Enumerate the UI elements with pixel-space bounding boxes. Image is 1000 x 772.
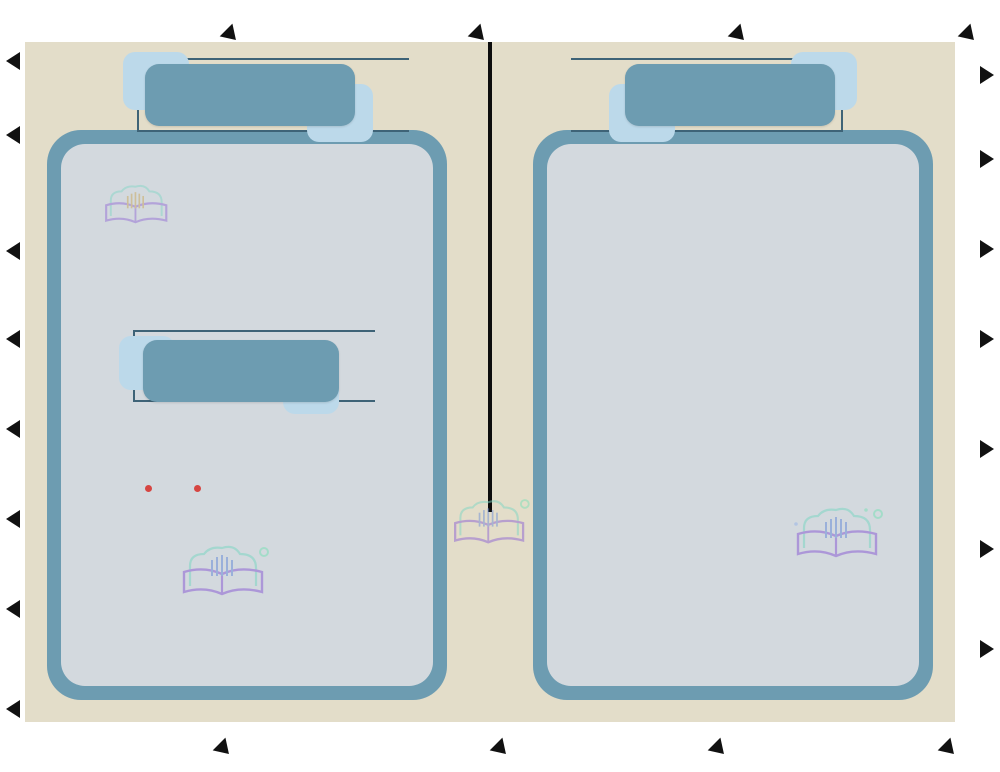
worksheet-note bbox=[145, 482, 355, 494]
translation-mini-graph-right bbox=[259, 526, 409, 616]
crop-arrow-left-5 bbox=[6, 420, 20, 438]
crop-arrow-bottom-2 bbox=[490, 738, 513, 761]
panel-ordered-pairs bbox=[533, 130, 933, 700]
crop-arrow-left-6 bbox=[6, 510, 20, 528]
crop-arrow-bottom-4 bbox=[938, 738, 961, 761]
worksheet-note-items bbox=[145, 485, 355, 494]
crop-arrow-left-8 bbox=[6, 700, 20, 718]
crop-arrow-left-3 bbox=[6, 242, 20, 260]
poster-page bbox=[25, 42, 955, 722]
crop-arrow-left-2 bbox=[6, 126, 20, 144]
example-pairs-grid bbox=[561, 309, 905, 360]
crop-arrow-right-4 bbox=[980, 330, 994, 348]
center-divider-rod bbox=[488, 42, 492, 512]
bullet-icon bbox=[194, 485, 201, 492]
panel-graphing-functions-body bbox=[61, 144, 433, 686]
panel-title-graphing-functions bbox=[145, 64, 355, 126]
crop-arrow-right-6 bbox=[980, 540, 994, 558]
crop-arrow-right-2 bbox=[980, 150, 994, 168]
crop-arrow-left-1 bbox=[6, 52, 20, 70]
crop-arrow-bottom-1 bbox=[213, 738, 236, 761]
crop-arrow-right-5 bbox=[980, 440, 994, 458]
translation-mini-graph-left bbox=[85, 526, 235, 616]
worksheet-item-2 bbox=[194, 485, 201, 494]
open-book-icon bbox=[790, 504, 886, 566]
bullet-icon bbox=[145, 485, 152, 492]
panel-graphing-functions bbox=[47, 130, 447, 700]
crop-arrow-left-7 bbox=[6, 600, 20, 618]
graphing-functions-scatter-plot bbox=[75, 204, 245, 334]
panel-ordered-pairs-body bbox=[547, 144, 919, 686]
panel-title-translation bbox=[143, 340, 339, 402]
ordered-pairs-scatter-plot bbox=[565, 419, 795, 619]
crop-arrow-left-4 bbox=[6, 330, 20, 348]
crop-arrow-top-4 bbox=[958, 24, 981, 47]
crop-arrow-right-3 bbox=[980, 240, 994, 258]
crop-arrow-bottom-3 bbox=[708, 738, 731, 761]
crop-arrow-right-7 bbox=[980, 640, 994, 658]
worksheet-item-1 bbox=[145, 485, 152, 494]
panel-title-ordered-pairs bbox=[625, 64, 835, 126]
crop-arrow-right-1 bbox=[980, 66, 994, 84]
